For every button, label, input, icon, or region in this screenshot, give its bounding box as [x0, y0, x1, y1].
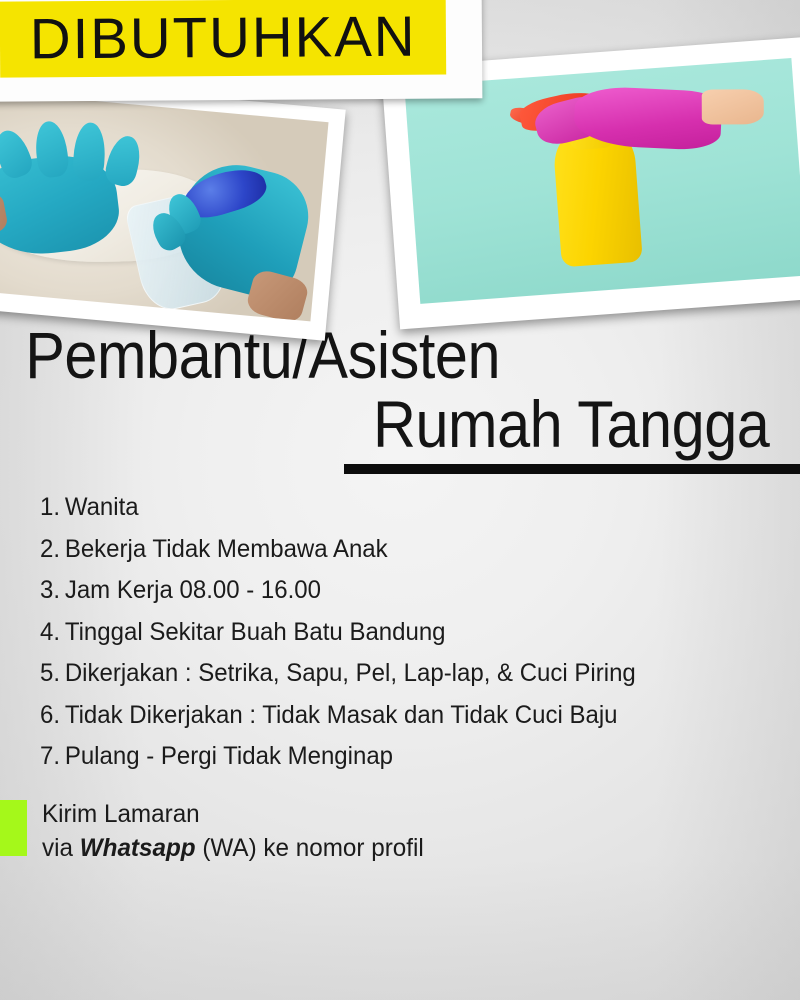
photo-cleaning-gloves-wiping	[0, 75, 346, 340]
requirement-number: 5.	[40, 659, 60, 687]
requirement-number: 4.	[40, 618, 60, 646]
requirement-item: 4.Tinggal Sekitar Buah Batu Bandung	[40, 620, 741, 645]
headline-banner-frame: DIBUTUHKAN	[0, 0, 482, 102]
green-accent-bar	[0, 800, 27, 856]
requirement-item: 1.Wanita	[40, 495, 741, 520]
poster-canvas: DIBUTUHKAN	[0, 0, 800, 1000]
photo-left-image	[0, 91, 329, 322]
headline-banner-fill: DIBUTUHKAN	[0, 0, 446, 78]
glove-finger-shape	[73, 122, 108, 182]
requirement-item: 6.Tidak Dikerjakan : Tidak Masak dan Tid…	[40, 703, 741, 728]
forearm-skin-shape	[702, 90, 764, 125]
title-underline-rule	[344, 464, 800, 474]
requirement-number: 1.	[40, 493, 60, 521]
requirement-number: 6.	[40, 701, 60, 729]
requirement-text: Jam Kerja 08.00 - 16.00	[65, 576, 321, 604]
footer-line-whatsapp: via Whatsapp (WA) ke nomor profil	[42, 832, 424, 866]
requirement-number: 3.	[40, 576, 60, 604]
requirement-item: 5.Dikerjakan : Setrika, Sapu, Pel, Lap-l…	[40, 661, 741, 686]
footer-line-apply: Kirim Lamaran	[42, 798, 424, 832]
title-line-1: Pembantu/Asisten	[0, 322, 720, 389]
whatsapp-brand-label: Whatsapp	[80, 834, 196, 862]
requirements-list: 1.Wanita 2.Bekerja Tidak Membawa Anak 3.…	[40, 495, 770, 786]
title-line-2: Rumah Tangga	[80, 391, 800, 458]
poster-title: Pembantu/Asisten Rumah Tangga	[0, 322, 800, 459]
headline-text: DIBUTUHKAN	[29, 8, 416, 68]
footer-via-suffix: (WA) ke nomor profil	[196, 834, 424, 862]
requirement-item: 7.Pulang - Pergi Tidak Menginap	[40, 744, 741, 769]
contact-footer: Kirim Lamaran via Whatsapp (WA) ke nomor…	[42, 798, 436, 865]
requirement-text: Dikerjakan : Setrika, Sapu, Pel, Lap-lap…	[65, 659, 636, 687]
requirement-item: 3.Jam Kerja 08.00 - 16.00	[40, 578, 741, 603]
forearm-skin-shape	[245, 268, 310, 322]
footer-via-prefix: via	[42, 834, 80, 862]
requirement-number: 7.	[40, 742, 60, 770]
requirement-text: Wanita	[65, 493, 139, 521]
requirement-text: Tinggal Sekitar Buah Batu Bandung	[65, 618, 446, 646]
requirement-text: Tidak Dikerjakan : Tidak Masak dan Tidak…	[65, 701, 618, 729]
requirement-number: 2.	[40, 535, 60, 563]
requirement-item: 2.Bekerja Tidak Membawa Anak	[40, 537, 741, 562]
requirement-text: Bekerja Tidak Membawa Anak	[65, 535, 388, 563]
requirement-text: Pulang - Pergi Tidak Menginap	[65, 742, 393, 770]
